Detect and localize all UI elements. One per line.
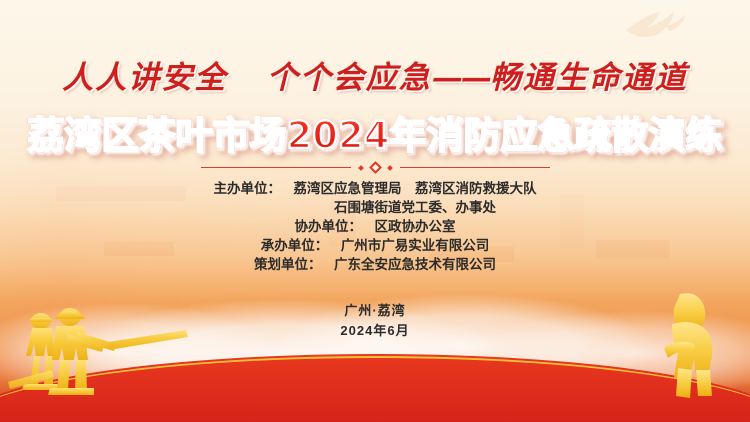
slogan-part1: 人人讲安全 (62, 60, 227, 96)
organizer-value: 广东全安应急技术有限公司 (328, 256, 496, 274)
firefighter-hose-silhouette (8, 304, 208, 396)
organizer-value: 区政协办公室 (369, 218, 456, 236)
organizer-label: 策划单位： (254, 256, 328, 274)
dove-icon (620, 8, 690, 42)
organizer-list: 主办单位： 荔湾区应急管理局 荔湾区消防救援大队 石围塘街道党工委、办事处 协办… (0, 180, 750, 274)
divider-line-right (400, 167, 550, 169)
divider-diamond-small-left (358, 165, 364, 171)
divider-line-left (201, 167, 351, 169)
slogan-line: 人人讲安全 个个会应急——畅通生命通道 (0, 52, 750, 97)
organizer-label: 主办单位： (214, 180, 288, 198)
organizer-value: 广州市广易实业有限公司 (335, 237, 490, 255)
organizer-row: 承办单位： 广州市广易实业有限公司 (261, 237, 490, 255)
organizer-label: 协办单位： (295, 218, 369, 236)
organizer-row: 主办单位： 荔湾区应急管理局 荔湾区消防救援大队 (214, 180, 537, 198)
slogan-part2: 个个会应急 (267, 60, 432, 96)
divider-diamond-small-right (387, 165, 393, 171)
poster-canvas: 人人讲安全 个个会应急——畅通生命通道 荔湾区茶叶市场2024年消防应急疏散演练… (0, 0, 750, 422)
organizer-row: 协办单位： 区政协办公室 (295, 218, 456, 236)
organizer-value: 荔湾区应急管理局 荔湾区消防救援大队 (288, 180, 537, 198)
organizer-label: 承办单位： (261, 237, 335, 255)
divider-diamond-center (369, 161, 382, 174)
page-title: 荔湾区茶叶市场2024年消防应急疏散演练 (0, 105, 750, 159)
organizer-row: 策划单位： 广东全安应急技术有限公司 (254, 256, 496, 274)
slogan-part3: 畅通生命通道 (490, 60, 688, 96)
slogan-dash: —— (432, 60, 490, 96)
rescue-person-silhouette (642, 290, 732, 400)
diamond-divider (0, 163, 750, 172)
organizer-row: 石围塘街道党工委、办事处 (254, 199, 496, 217)
organizer-value: 石围塘街道党工委、办事处 (254, 199, 496, 217)
